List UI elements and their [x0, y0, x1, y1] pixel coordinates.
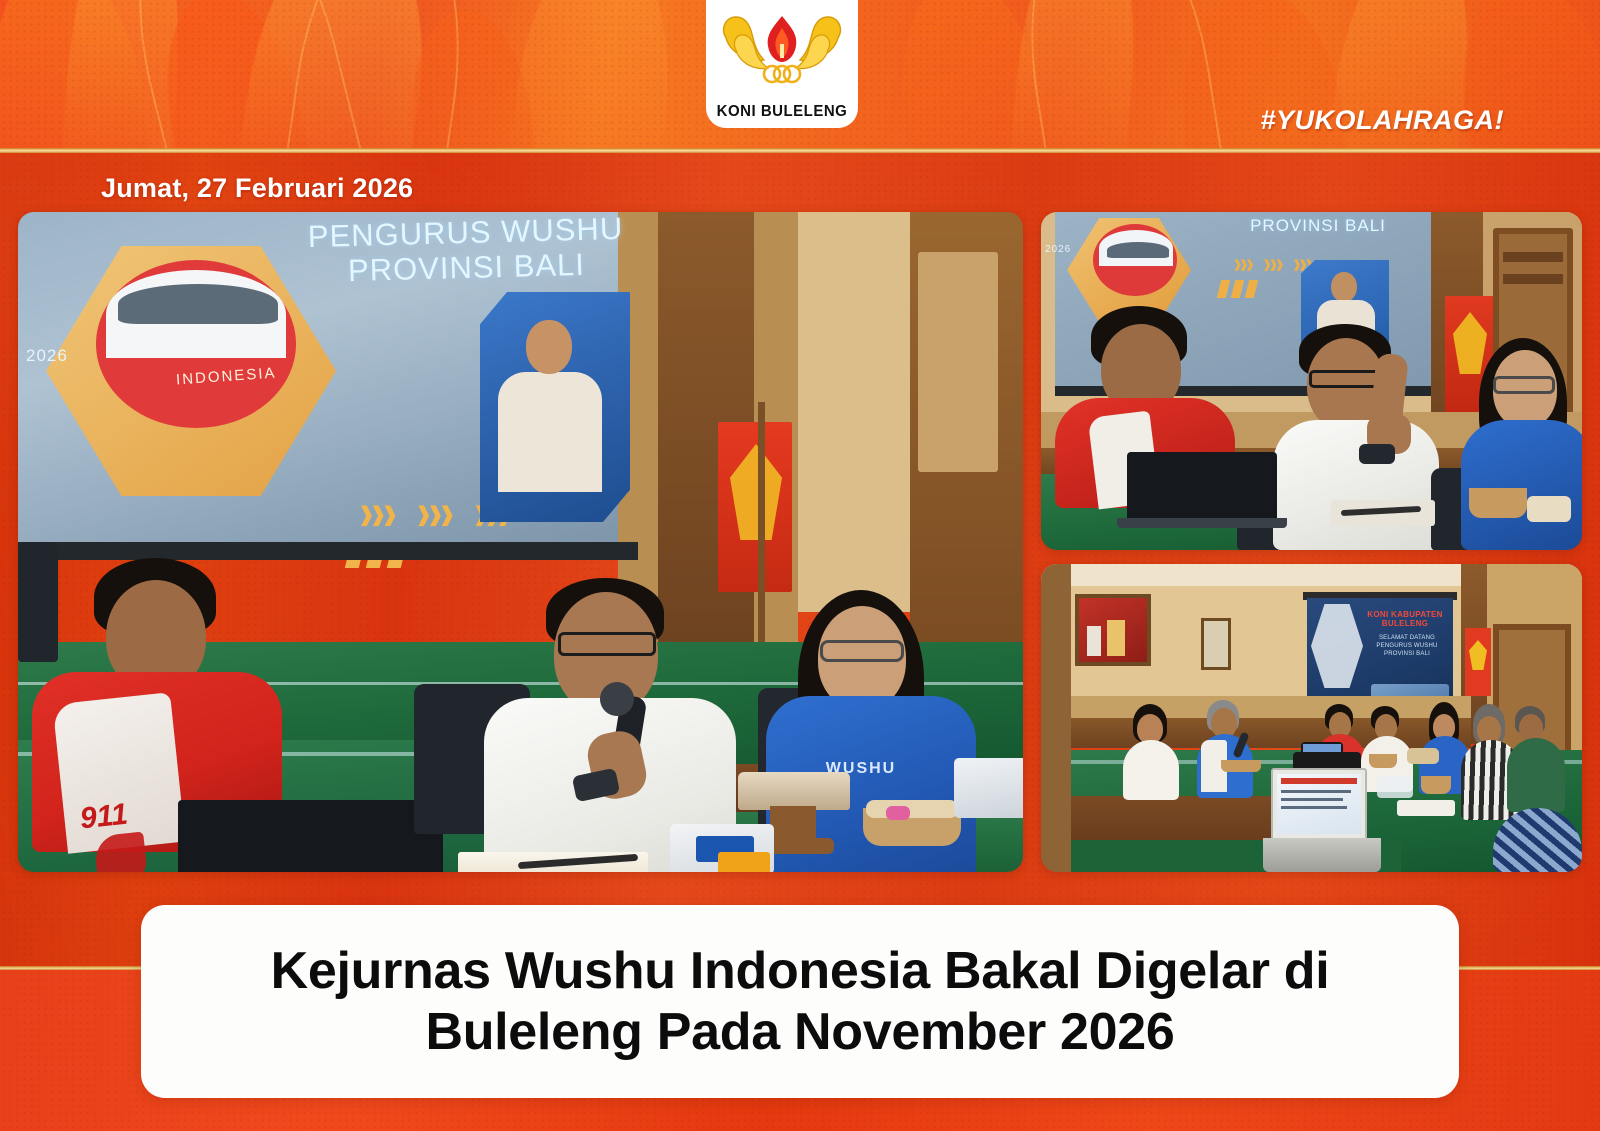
projector-year: 2026 [26, 346, 68, 366]
officials-discussion-photo: PROVINSI BALI ❱❱❱❱❱❱❱❱❱ 2026 [1041, 212, 1582, 550]
koni-buleleng-logo: KONI BULELENG [706, 0, 858, 128]
eyeglasses [820, 640, 904, 662]
projector-text-tr: PROVINSI BALI [1223, 216, 1413, 236]
jersey-number: 911 [78, 798, 129, 837]
date-label: Jumat, 27 Februari 2026 [101, 173, 413, 204]
poster-canvas: KONI BULELENG #YUKOLAHRAGA! Jumat, 27 Fe… [0, 0, 1600, 1131]
wristwatch [1359, 444, 1395, 464]
headline-card: Kejurnas Wushu Indonesia Bakal Digelar d… [141, 905, 1459, 1098]
projector-screen: PENGURUS WUSHU PROVINSI BALI ❱❱❱❱❱❱❱❱❱ 2… [18, 212, 648, 552]
meeting-room-wide-photo: KONI KABUPATENBULELENG SELAMAT DATANGPEN… [1041, 564, 1582, 872]
eyeglasses [558, 632, 656, 656]
projector-headline: PENGURUS WUSHU PROVINSI BALI [305, 212, 627, 290]
page-title: Kejurnas Wushu Indonesia Bakal Digelar d… [141, 941, 1459, 1062]
content-band: Jumat, 27 Februari 2026 PENGURUS WUSHU P… [0, 153, 1600, 968]
koni-emblem-icon [716, 8, 848, 86]
main-press-conference-photo: PENGURUS WUSHU PROVINSI BALI ❱❱❱❱❱❱❱❱❱ 2… [18, 212, 1023, 872]
eyeglasses [1309, 370, 1383, 388]
eyeglasses [1493, 376, 1555, 394]
logo-label: KONI BULELENG [716, 103, 848, 121]
gold-divider-top [0, 148, 1600, 153]
hashtag-yukolahraga: #YUKOLAHRAGA! [1260, 105, 1504, 136]
